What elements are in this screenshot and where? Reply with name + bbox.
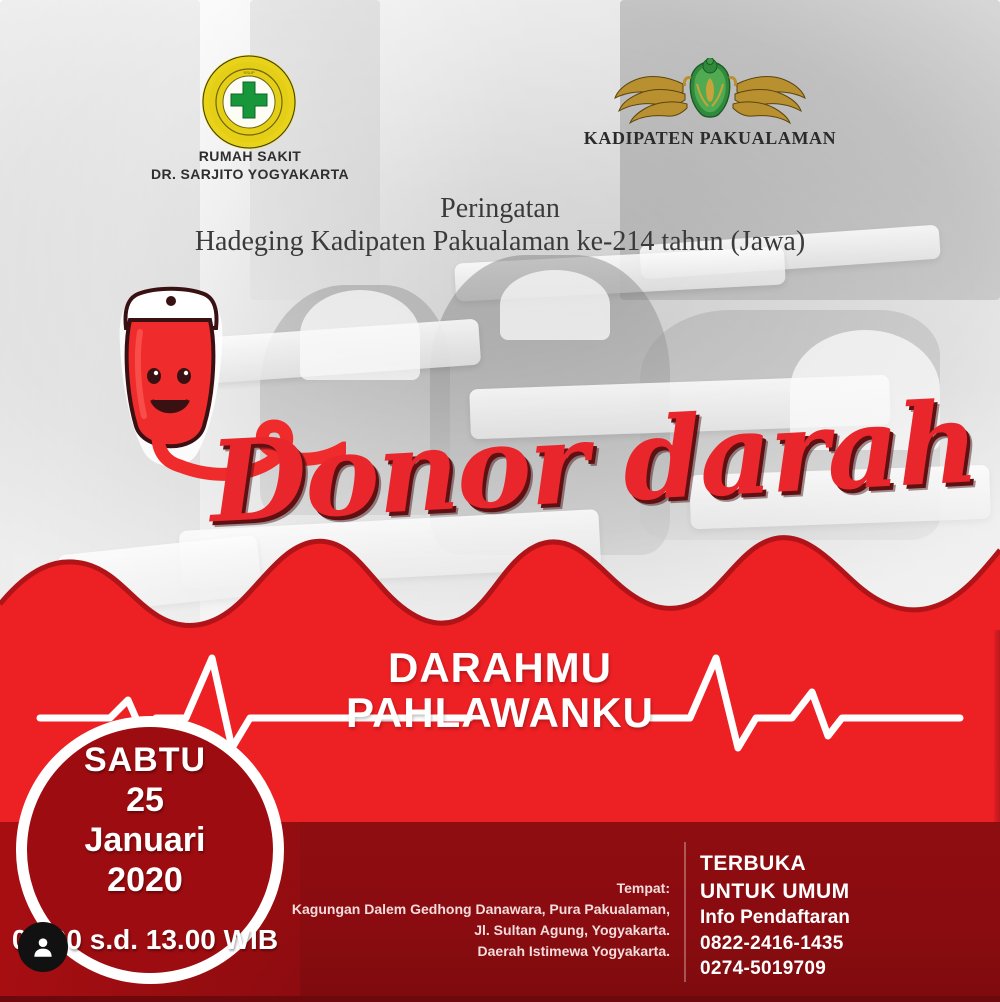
- svg-text:RSUP: RSUP: [243, 70, 254, 75]
- bottom-rule: [0, 996, 1000, 1002]
- hospital-logo-caption: RUMAH SAKIT DR. SARJITO YOGYAKARTA: [120, 148, 380, 183]
- hospital-caption-line1: RUMAH SAKIT: [199, 148, 301, 164]
- hospital-seal-icon: RSUP: [199, 52, 299, 152]
- regency-logo-caption: KADIPATEN PAKUALAMAN: [545, 128, 875, 149]
- date-month: Januari: [0, 820, 290, 860]
- venue-label: Tempat:: [280, 878, 670, 899]
- pakualaman-crest-icon: [605, 58, 815, 126]
- headline-line1: Peringatan: [440, 193, 560, 224]
- contact-line1: TERBUKA: [700, 850, 990, 878]
- date-text: SABTU 25 Januari 2020: [0, 740, 290, 900]
- contact-phone-2[interactable]: 0274-5019709: [700, 956, 990, 981]
- date-year: 2020: [0, 860, 290, 900]
- person-avatar-icon: [18, 922, 68, 972]
- venue-line3: Daerah Istimewa Yogyakarta.: [280, 941, 670, 962]
- contact-line2: UNTUK UMUM: [700, 878, 990, 906]
- slogan-line1: DARAHMU: [0, 646, 1000, 691]
- page-title: Peringatan Hadeging Kadipaten Pakualaman…: [0, 192, 1000, 258]
- venue-block: Tempat: Kagungan Dalem Gedhong Danawara,…: [280, 878, 670, 962]
- donor-darah-poster: RSUP RUMAH SAKIT DR. SARJITO YOGYAKARTA: [0, 0, 1000, 1002]
- contact-phone-1[interactable]: 0822-2416-1435: [700, 931, 990, 956]
- date-day: SABTU: [0, 740, 290, 780]
- hospital-caption-line2: DR. SARJITO YOGYAKARTA: [151, 166, 349, 182]
- headline-line2: Hadeging Kadipaten Pakualaman ke-214 tah…: [0, 225, 1000, 258]
- venue-line2: Jl. Sultan Agung, Yogyakarta.: [280, 920, 670, 941]
- footer-divider: [684, 842, 686, 982]
- contact-line3: Info Pendaftaran: [700, 905, 990, 930]
- date-number: 25: [0, 780, 290, 820]
- venue-line1: Kagungan Dalem Gedhong Danawara, Pura Pa…: [280, 899, 670, 920]
- contact-block: TERBUKA UNTUK UMUM Info Pendaftaran 0822…: [700, 850, 990, 981]
